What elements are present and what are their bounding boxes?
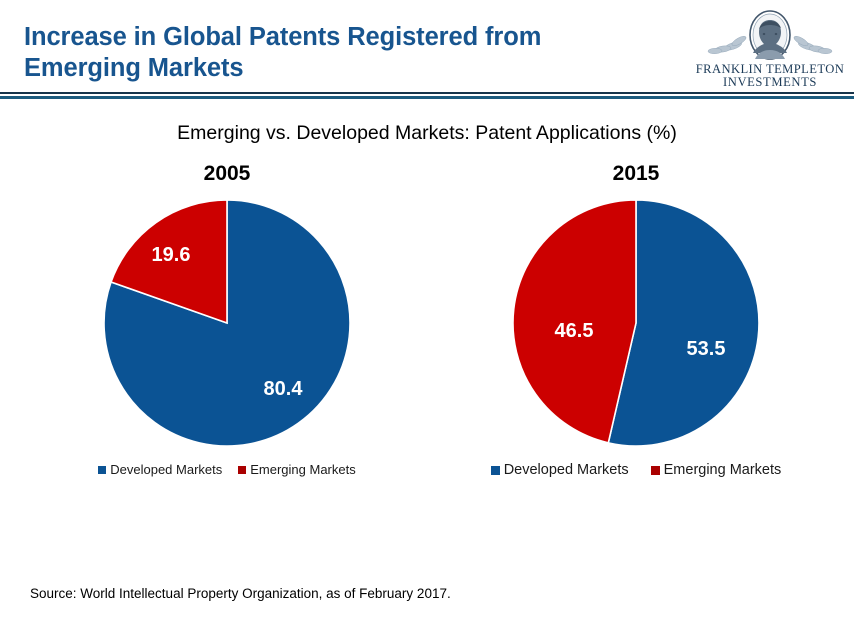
pie-panel-2015: 2015 46.5 53.5 Developed Markets [436,162,836,562]
pie-chart-2005: 19.6 80.4 [27,197,427,449]
pie-panel-2005-year-label: 2005 [27,162,427,186]
pie-legend-2005: Developed Markets Emerging Markets [27,462,427,477]
pie-legend-2015: Developed Markets Emerging Markets [436,462,836,478]
legend-item-developed-2015[interactable]: Developed Markets [491,462,629,478]
divider-thin-rule [0,92,854,94]
pie-slice-label-developed-2015: 53.5 [687,338,726,360]
header-divider [0,92,854,100]
logo-wordmark-line1: FRANKLIN TEMPLETON [696,63,844,76]
divider-thick-rule [0,96,854,99]
franklin-portrait-laurel-icon [695,10,845,62]
slide-footer: Source: World Intellectual Property Orga… [0,578,854,618]
legend-swatch-emerging-icon [238,466,246,474]
legend-label-emerging: Emerging Markets [664,462,782,478]
pie-panel-2005: 2005 19.6 80.4 Developed Markets [27,162,427,562]
legend-swatch-developed-icon [491,466,500,475]
franklin-templeton-logo: FRANKLIN TEMPLETON INVESTMENTS [695,10,845,92]
pie-slice-label-emerging-2005: 19.6 [152,244,191,266]
legend-item-developed-2005[interactable]: Developed Markets [98,462,222,477]
pie-chart-2015: 46.5 53.5 [436,197,836,449]
page-title: Increase in Global Patents Registered fr… [24,22,644,84]
pie-chart-2005-svg: 19.6 80.4 [97,197,357,449]
chart-title: Emerging vs. Developed Markets: Patent A… [0,122,854,145]
legend-item-emerging-2015[interactable]: Emerging Markets [651,462,782,478]
source-note: Source: World Intellectual Property Orga… [30,586,451,601]
legend-item-emerging-2005[interactable]: Emerging Markets [238,462,355,477]
legend-swatch-emerging-icon [651,466,660,475]
slide-header: Increase in Global Patents Registered fr… [0,0,854,94]
chart-area: Emerging vs. Developed Markets: Patent A… [0,100,854,565]
pie-slice-label-developed-2005: 80.4 [264,378,304,400]
logo-wordmark: FRANKLIN TEMPLETON INVESTMENTS [696,63,844,88]
pie-chart-2015-svg: 46.5 53.5 [506,197,766,449]
legend-label-developed: Developed Markets [110,462,222,477]
logo-wordmark-line2: INVESTMENTS [696,76,844,89]
pie-panel-2015-year-label: 2015 [436,162,836,186]
pie-slice-label-emerging-2015: 46.5 [555,320,594,342]
legend-swatch-developed-icon [98,466,106,474]
legend-label-developed: Developed Markets [504,462,629,478]
legend-label-emerging: Emerging Markets [250,462,355,477]
